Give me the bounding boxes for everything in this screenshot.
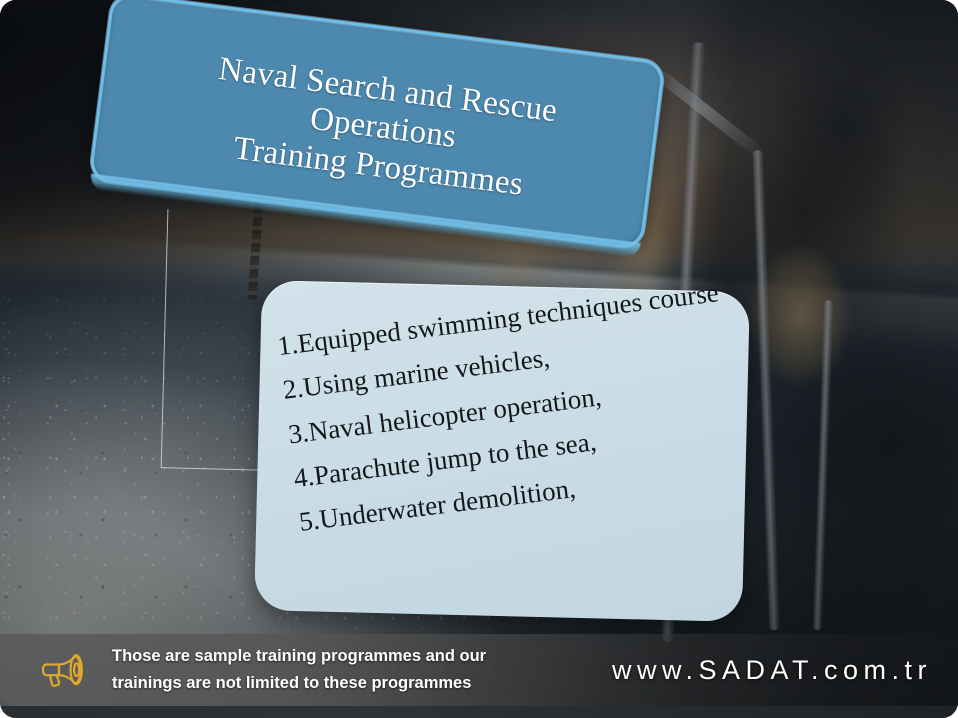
website-url[interactable]: www.SADAT.com.tr — [612, 655, 932, 686]
slide-root: Naval Search and Rescue Operations Train… — [0, 0, 958, 718]
bottom-edge-strip — [0, 706, 958, 718]
footer-bar: Those are sample training programmes and… — [0, 634, 958, 706]
footer-note: Those are sample training programmes and… — [112, 643, 486, 696]
training-list-card: 1.Equipped swimming techniques course 2.… — [254, 280, 750, 622]
megaphone-icon-glyph — [41, 649, 93, 691]
megaphone-icon — [40, 648, 94, 692]
